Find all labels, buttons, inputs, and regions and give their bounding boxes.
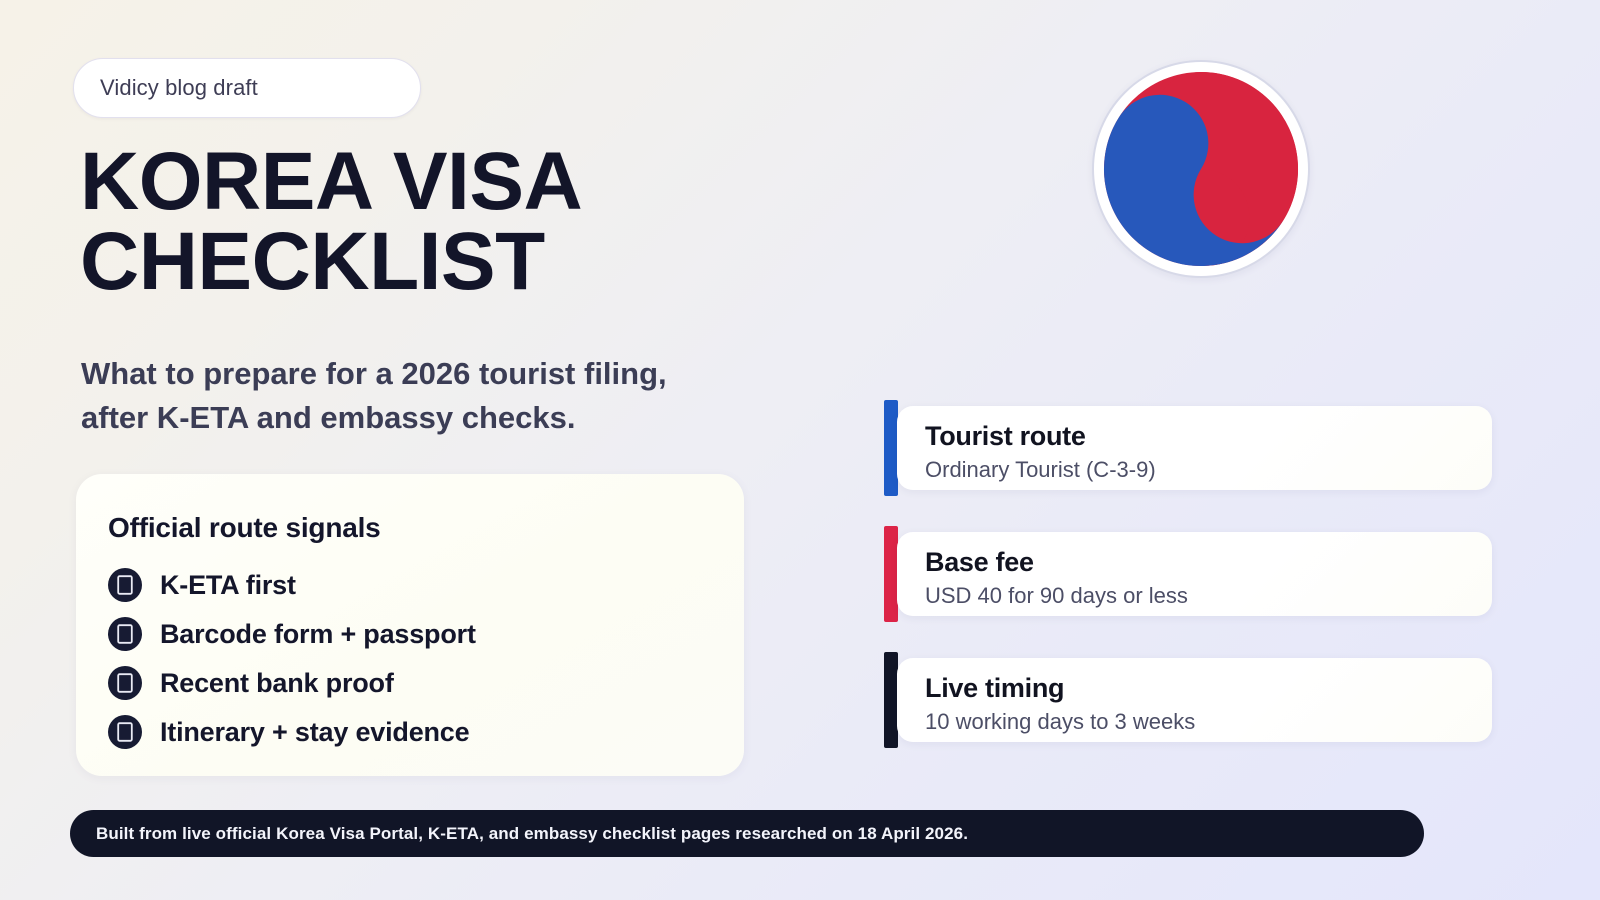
list-item-label: Barcode form + passport — [160, 619, 476, 650]
document-icon — [108, 666, 142, 700]
document-icon — [108, 715, 142, 749]
fact-card-body: Base fee USD 40 for 90 days or less — [897, 532, 1492, 616]
fact-card-subtitle: Ordinary Tourist (C-3-9) — [925, 455, 1492, 485]
checklist-items: K-ETA first Barcode form + passport Rece… — [108, 564, 712, 753]
fact-card-subtitle: USD 40 for 90 days or less — [925, 581, 1492, 611]
fact-card-live-timing[interactable]: Live timing 10 working days to 3 weeks — [884, 652, 1492, 748]
fact-card-list: Tourist route Ordinary Tourist (C-3-9) B… — [884, 400, 1492, 778]
accent-bar — [884, 526, 898, 622]
document-icon — [108, 617, 142, 651]
page-title: KOREA VISA CHECKLIST — [80, 142, 840, 301]
poster-canvas: Vidicy blog draft KOREA VISA CHECKLIST W… — [0, 0, 1600, 900]
list-item[interactable]: Recent bank proof — [108, 662, 712, 704]
page-subtitle-line1: What to prepare for a 2026 tourist filin… — [81, 356, 667, 391]
fact-card-title: Tourist route — [925, 420, 1492, 452]
fact-card-subtitle: 10 working days to 3 weeks — [925, 707, 1492, 737]
page-subtitle-line2: after K-ETA and embassy checks. — [81, 400, 575, 435]
document-icon — [108, 568, 142, 602]
list-item[interactable]: Barcode form + passport — [108, 613, 712, 655]
accent-bar — [884, 400, 898, 496]
checklist-heading: Official route signals — [108, 512, 712, 544]
fact-card-title: Live timing — [925, 672, 1492, 704]
draft-badge[interactable]: Vidicy blog draft — [73, 58, 421, 118]
taegeuk-icon — [1103, 71, 1299, 267]
page-title-line1: KOREA VISA — [80, 136, 582, 227]
page-subtitle: What to prepare for a 2026 tourist filin… — [81, 352, 871, 440]
list-item[interactable]: Itinerary + stay evidence — [108, 711, 712, 753]
fact-card-body: Tourist route Ordinary Tourist (C-3-9) — [897, 406, 1492, 490]
checklist-card: Official route signals K-ETA first Barco… — [76, 474, 744, 776]
list-item-label: Recent bank proof — [160, 668, 394, 699]
fact-card-body: Live timing 10 working days to 3 weeks — [897, 658, 1492, 742]
list-item-label: K-ETA first — [160, 570, 296, 601]
draft-badge-label: Vidicy blog draft — [100, 75, 258, 101]
source-footer-text: Built from live official Korea Visa Port… — [96, 824, 968, 844]
fact-card-base-fee[interactable]: Base fee USD 40 for 90 days or less — [884, 526, 1492, 622]
page-title-line2: CHECKLIST — [80, 216, 545, 307]
accent-bar — [884, 652, 898, 748]
fact-card-title: Base fee — [925, 546, 1492, 578]
source-footer: Built from live official Korea Visa Port… — [70, 810, 1424, 857]
fact-card-tourist-route[interactable]: Tourist route Ordinary Tourist (C-3-9) — [884, 400, 1492, 496]
taegeuk-logo — [1092, 60, 1310, 278]
list-item[interactable]: K-ETA first — [108, 564, 712, 606]
list-item-label: Itinerary + stay evidence — [160, 717, 469, 748]
